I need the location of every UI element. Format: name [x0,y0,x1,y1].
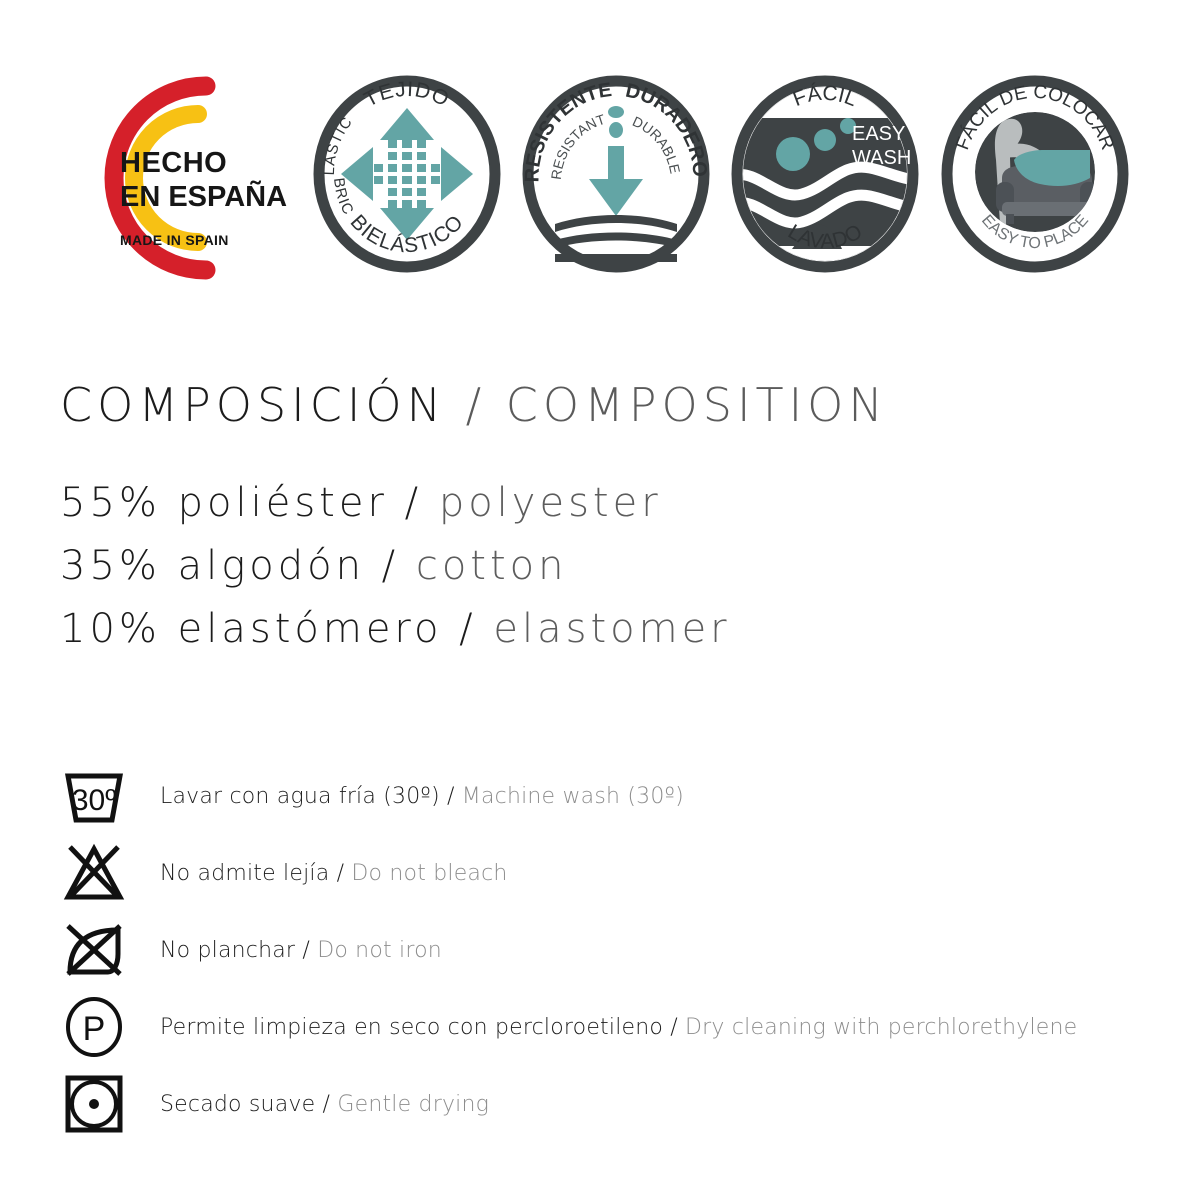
composition-item-es: 35% algodón / [60,543,416,589]
care-label-es: No planchar / [160,938,317,963]
composition-item-en: elastomer [493,606,730,652]
composition-item-en: cotton [416,543,568,589]
care-label-es: Lavar con agua fría (30º) / [160,784,462,809]
wash-temp-value: 30º [72,784,116,817]
care-instructions-list: 30º Lavar con agua fría (30º) / Machine … [58,760,1158,1145]
care-label-en: Do not iron [317,938,442,963]
spain-sub-line: MADE IN SPAIN [120,232,300,248]
gentle-drying-icon [58,1070,130,1138]
dry-clean-p-icon: P [58,993,130,1061]
bubble-medium [814,129,836,151]
durable-layers-icon [555,215,677,262]
care-label-en: Do not bleach [351,861,507,886]
care-row-label: Secado suave / Gentle drying [160,1092,489,1117]
composition-title: COMPOSICIÓN / COMPOSITION [60,378,888,432]
svg-text:RESISTENTE: RESISTENTE [521,79,613,183]
badge-easy-wash: FÁCIL LAVADO EASY WASH [730,74,920,274]
care-row-label: Permite limpieza en seco con percloroeti… [160,1015,1077,1040]
spain-line-2: EN ESPAÑA [120,182,300,212]
composition-item: 35% algodón / cotton [60,535,731,598]
care-row: No planchar / Do not iron [58,914,1158,991]
care-label-en: Machine wash (30º) [462,784,684,809]
no-iron-icon [58,916,130,984]
easy-wash-line1: EASY [852,123,905,145]
badge-row: HECHO EN ESPAÑA MADE IN SPAIN [0,56,1200,296]
care-row: Secado suave / Gentle drying [58,1068,1158,1145]
composition-title-sep: / [446,378,506,432]
wash-tub-30-icon: 30º [58,762,130,830]
care-row: 30º Lavar con agua fría (30º) / Machine … [58,760,1158,837]
composition-item: 55% poliéster / polyester [60,472,731,535]
care-row-label: Lavar con agua fría (30º) / Machine wash… [160,784,684,809]
care-label-en: Dry cleaning with perchlorethylene [685,1015,1077,1040]
badge-bielastic-fabric: TEJIDO BIELÁSTICO BIELASTIC FABRIC [312,74,502,274]
care-label-es: No admite lejía / [160,861,351,886]
care-label-en: Gentle drying [337,1092,489,1117]
care-row: No admite lejía / Do not bleach [58,837,1158,914]
care-label-es: Secado suave / [160,1092,337,1117]
dry-clean-letter: P [83,1010,106,1048]
composition-title-en: COMPOSITION [506,378,888,432]
care-row-label: No planchar / Do not iron [160,938,442,963]
care-row-label: No admite lejía / Do not bleach [160,861,508,886]
badge-resistant-durable: RESISTENTE DURADERO RESISTANT DURABLE [521,74,711,274]
badge-easy-to-place: FÁCIL DE COLOCAR EASY TO PLACE [940,74,1130,274]
composition-item-es: 55% poliéster / [60,480,439,526]
care-label-page: HECHO EN ESPAÑA MADE IN SPAIN [0,0,1200,1200]
composition-list: 55% poliéster / polyester 35% algodón / … [60,472,731,661]
composition-item-es: 10% elastómero / [60,606,493,652]
bubble-large [776,137,810,171]
care-label-es: Permite limpieza en seco con percloroeti… [160,1015,685,1040]
composition-item: 10% elastómero / elastomer [60,598,731,661]
resistant-es-label: RESISTENTE [521,79,613,183]
composition-title-es: COMPOSICIÓN [60,378,446,432]
easy-wash-line2: WASH [852,147,911,169]
badge-made-in-spain: HECHO EN ESPAÑA MADE IN SPAIN [56,70,296,285]
composition-item-en: polyester [439,480,662,526]
spain-line-1: HECHO [120,148,300,178]
no-bleach-icon [58,839,130,907]
care-row: P Permite limpieza en seco con percloroe… [58,991,1158,1068]
